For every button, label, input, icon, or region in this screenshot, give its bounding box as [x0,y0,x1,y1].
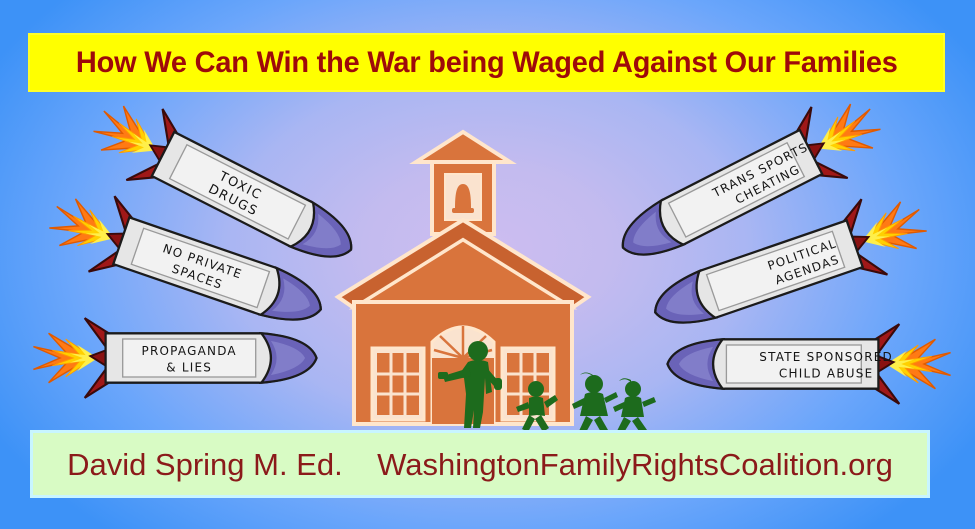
missile-label-line1: STATE SPONSORED [759,350,893,364]
title-banner: How We Can Win the War being Waged Again… [28,33,945,92]
missile-propaganda-and-lies: PROPAGANDA & LIES [32,312,317,403]
footer-credit: David Spring M. Ed. WashingtonFamilyRigh… [67,449,893,480]
explosion-icon [45,194,122,262]
window-right [502,348,554,420]
missile-label-line1: PROPAGANDA [142,344,237,358]
missile-state-sponsored-child-abuse: STATE SPONSORED CHILD ABUSE [668,318,953,409]
footer-banner: David Spring M. Ed. WashingtonFamilyRigh… [30,430,930,498]
child-silhouette-2 [572,373,618,435]
explosion-icon [807,97,887,170]
missile-label-line2: & LIES [166,360,212,374]
window-left [372,348,424,420]
schoolhouse-illustration [320,112,660,434]
child-silhouette-3 [613,378,656,434]
explosion-icon [854,197,931,265]
poster-canvas: TOXIC DRUGS NO PRI [0,0,975,529]
explosion-icon [33,333,98,382]
main-roof [338,220,588,308]
explosion-icon [88,99,168,172]
explosion-icon [886,339,951,388]
poster-title: How We Can Win the War being Waged Again… [76,48,898,78]
missile-label-line2: CHILD ABUSE [779,366,873,380]
